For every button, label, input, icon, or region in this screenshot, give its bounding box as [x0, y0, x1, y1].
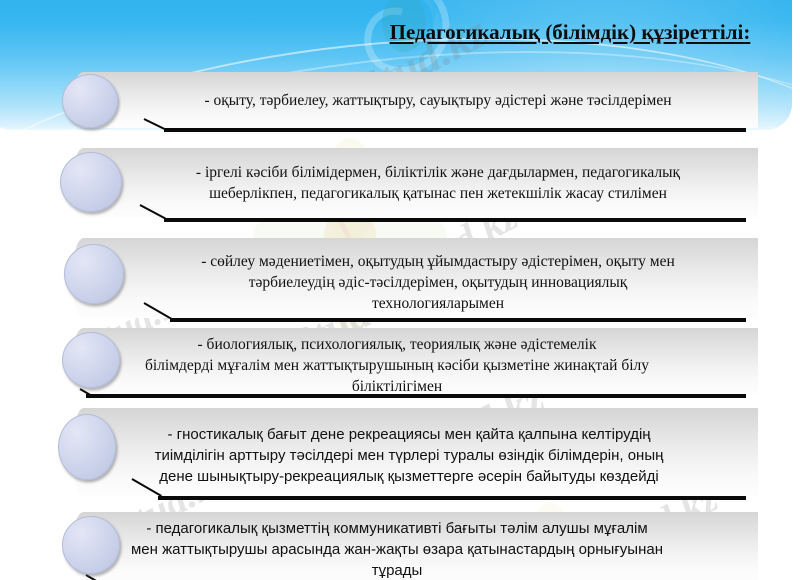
cylinder-row: - сөйлеу мәдениетімен, оқытудың ұйымдаст… [58, 238, 758, 326]
cylinder-row: - оқыту, тәрбиелеу, жаттықтыру, сауықтыр… [58, 72, 758, 134]
cylinder-text: - сөйлеу мәдениетімен, оқытудың ұйымдаст… [128, 251, 748, 314]
cylinder-row: - педагогикалық қызметтің коммуникативті… [58, 512, 758, 580]
slide-canvas: Stud.kz Stud.kz Stud.kz Stud.kz Stud.kz … [0, 0, 800, 580]
cylinder-row: - гностикалық бағыт дене рекреациясы мен… [58, 408, 758, 504]
cylinder-text: - педагогикалық қызметтің коммуникативті… [8, 518, 786, 580]
cylinder-cap-ellipse [60, 152, 122, 212]
cylinder-shadow-bar [170, 318, 746, 322]
cylinder-cap-ellipse [62, 74, 118, 128]
page-title-text: Педагогикалық (білімдік) құзіреттілі: [390, 20, 751, 44]
cylinder-shadow-bar [158, 496, 746, 500]
page-title: Педагогикалық (білімдік) құзіреттілі: [360, 20, 780, 45]
cylinder-row: - іргелі кәсіби білімідермен, біліктілік… [58, 148, 758, 226]
cylinder-text: - гностикалық бағыт дене рекреациясы мен… [54, 424, 764, 487]
cylinder-text: - оқыту, тәрбиелеу, жаттықтыру, сауықтыр… [128, 90, 748, 111]
cylinder-shadow-bar [164, 128, 746, 132]
cylinder-row: - биологиялық, психологиялық, теориялық … [58, 328, 758, 402]
cylinder-text: - іргелі кәсіби білімідермен, біліктілік… [128, 162, 748, 204]
cylinder-text: - биологиялық, психологиялық, теориялық … [12, 334, 782, 397]
cylinder-cap-ellipse [64, 244, 124, 304]
cylinder-shadow-bar [164, 218, 746, 222]
